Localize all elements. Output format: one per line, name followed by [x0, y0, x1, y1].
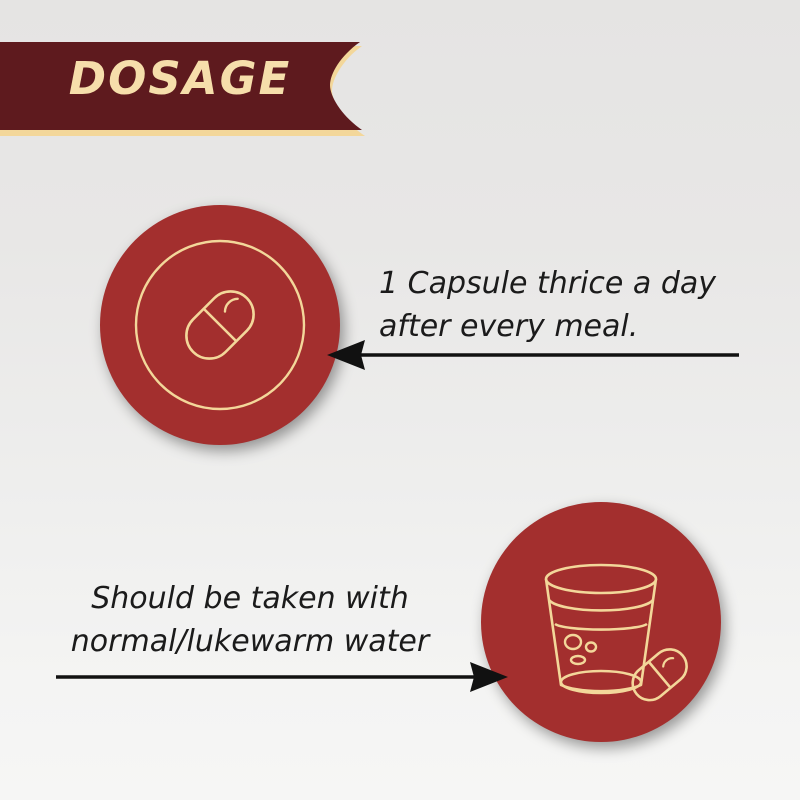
water-glass-circle: [481, 502, 721, 742]
capsule-icon-body: [177, 282, 263, 368]
caption-water: Should be taken with normal/lukewarm wat…: [40, 578, 460, 663]
capsule-circle: [100, 205, 340, 445]
glass-icon-body: [546, 565, 656, 693]
glass-icon-capsule: [626, 642, 694, 707]
dosage-infographic: DOSAGE 1 Capsule thrice a day after ever…: [0, 0, 800, 800]
arrow-pointing-left: [325, 338, 740, 372]
caption-dosage: 1 Capsule thrice a day after every meal.: [379, 263, 779, 348]
glass-icon-bubbles: [565, 635, 596, 664]
capsule-icon-shine: [222, 296, 237, 311]
arrow-pointing-right: [50, 660, 510, 694]
capsule-icon: [100, 205, 340, 445]
header-banner: [0, 42, 390, 124]
banner-body: [0, 42, 362, 130]
water-glass-with-capsule-icon: [481, 502, 721, 742]
